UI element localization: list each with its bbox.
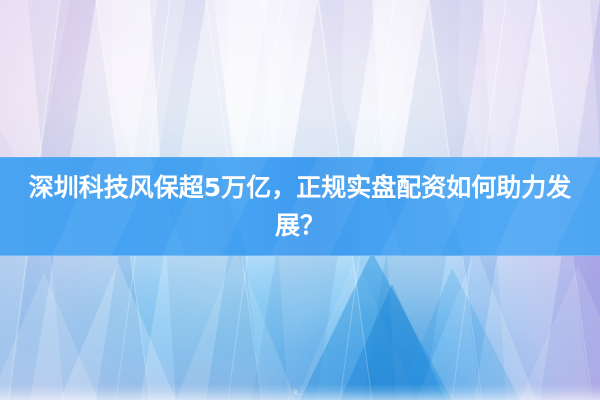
article-cover-banner: 深圳科技风保超5万亿，正规实盘配资如何助力发展？ k..: [0, 0, 600, 400]
title-band: 深圳科技风保超5万亿，正规实盘配资如何助力发展？: [0, 157, 600, 256]
page-title: 深圳科技风保超5万亿，正规实盘配资如何助力发展？: [12, 169, 588, 245]
